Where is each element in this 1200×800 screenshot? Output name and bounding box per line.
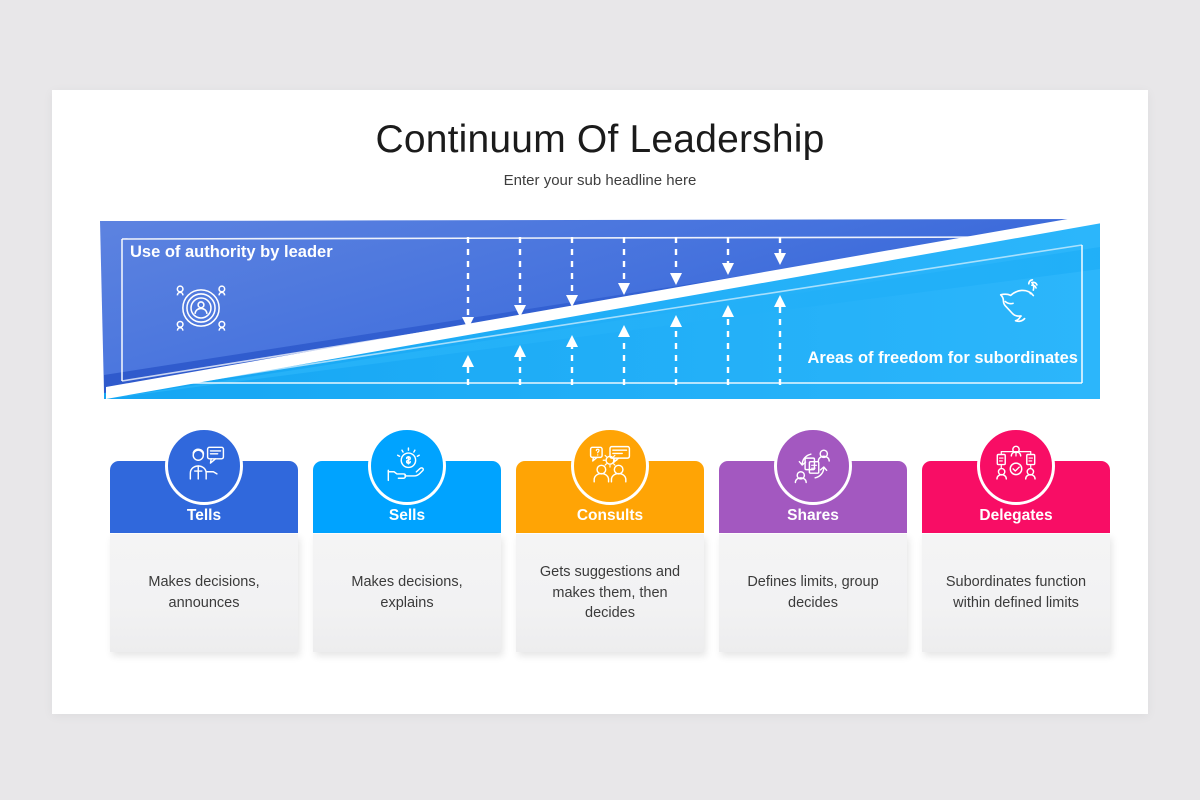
card-description: Makes decisions, explains: [325, 572, 489, 613]
exchange-documents-icon: [774, 427, 852, 505]
continuum-banner: Use of authority by leader Areas of free…: [96, 217, 1104, 404]
card-body: Subordinates function within defined lim…: [922, 534, 1110, 652]
page-title: Continuum Of Leadership: [52, 118, 1148, 162]
page-subtitle: Enter your sub headline here: [52, 172, 1148, 189]
card-description: Makes decisions, announces: [122, 572, 286, 613]
hand-coin-icon: [368, 427, 446, 505]
slide-canvas: Continuum Of Leadership Enter your sub h…: [52, 90, 1148, 714]
dove-peace-icon: [988, 272, 1046, 330]
leadership-style-cards: Tells Makes decisions, announces: [96, 427, 1104, 677]
card-description: Gets suggestions and makes them, then de…: [528, 562, 692, 624]
card-body: Makes decisions, announces: [110, 534, 298, 652]
card-title: Shares: [719, 507, 907, 525]
person-speaking-icon: [165, 427, 243, 505]
card-description: Subordinates function within defined lim…: [934, 572, 1098, 613]
card-description: Defines limits, group decides: [731, 572, 895, 613]
card-title: Delegates: [922, 507, 1110, 525]
freedom-label: Areas of freedom for subordinates: [808, 349, 1078, 368]
discussion-question-icon: [571, 427, 649, 505]
card-title: Tells: [110, 507, 298, 525]
card-body: Defines limits, group decides: [719, 534, 907, 652]
org-chart-approved-icon: [977, 427, 1055, 505]
leader-target-icon: [172, 279, 230, 337]
card-body: Makes decisions, explains: [313, 534, 501, 652]
authority-label: Use of authority by leader: [130, 243, 333, 262]
card-title: Consults: [516, 507, 704, 525]
card-title: Sells: [313, 507, 501, 525]
card-body: Gets suggestions and makes them, then de…: [516, 534, 704, 652]
